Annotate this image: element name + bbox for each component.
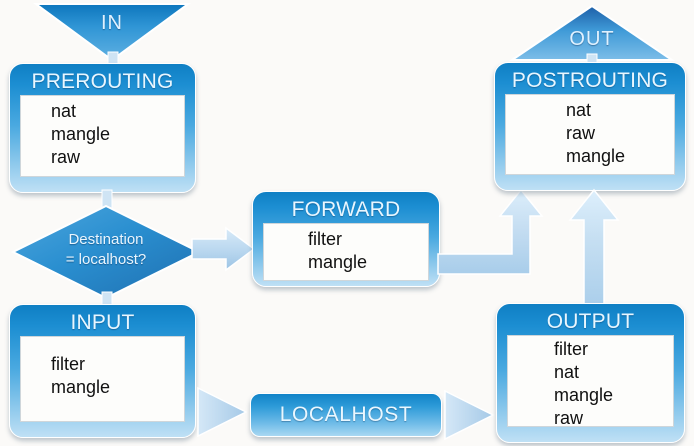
connector-output-to-postrouting (568, 188, 620, 312)
netfilter-flow-diagram: IN PREROUTING nat mangle raw (0, 0, 694, 446)
table-name: nat (508, 361, 673, 384)
chain-title-output: OUTPUT (507, 308, 674, 335)
chain-title-postrouting: POSTROUTING (505, 67, 675, 94)
table-name: mangle (506, 145, 674, 168)
chain-title-input: INPUT (20, 309, 185, 336)
table-name: filter (21, 341, 184, 376)
decision-diamond[interactable]: Destination = localhost? (13, 206, 199, 298)
connector-input-to-localhost (196, 386, 248, 438)
table-name: raw (506, 122, 674, 145)
localhost-node[interactable]: LOCALHOST (250, 393, 442, 437)
table-name: mangle (508, 384, 673, 407)
table-name: nat (21, 100, 184, 123)
chain-title-forward: FORWARD (263, 196, 429, 223)
connector-forward-to-postrouting (438, 188, 548, 274)
chain-box-forward[interactable]: FORWARD filter mangle (252, 191, 440, 287)
table-name: raw (21, 146, 184, 169)
localhost-label: LOCALHOST (280, 403, 413, 427)
connector-localhost-to-output (443, 389, 495, 441)
connector-decision-to-forward (192, 226, 254, 272)
table-name: mangle (21, 123, 184, 146)
table-name: nat (506, 99, 674, 122)
chain-box-output[interactable]: OUTPUT filter nat mangle raw (496, 303, 685, 443)
chain-title-prerouting: PREROUTING (20, 68, 185, 95)
out-label: OUT (512, 28, 672, 51)
tables-output: filter nat mangle raw (507, 335, 674, 427)
table-name: mangle (21, 376, 184, 399)
tables-forward: filter mangle (263, 223, 429, 281)
tables-input: filter mangle (20, 336, 185, 422)
table-name: mangle (264, 251, 428, 274)
table-name: filter (264, 228, 428, 251)
out-triangle: OUT (512, 6, 672, 60)
in-label: IN (36, 12, 188, 35)
chain-box-prerouting[interactable]: PREROUTING nat mangle raw (9, 63, 196, 193)
chain-box-input[interactable]: INPUT filter mangle (9, 304, 196, 438)
tables-postrouting: nat raw mangle (505, 94, 675, 175)
tables-prerouting: nat mangle raw (20, 95, 185, 177)
table-name: raw (508, 407, 673, 430)
chain-box-postrouting[interactable]: POSTROUTING nat raw mangle (494, 62, 686, 191)
table-name: filter (508, 338, 673, 361)
